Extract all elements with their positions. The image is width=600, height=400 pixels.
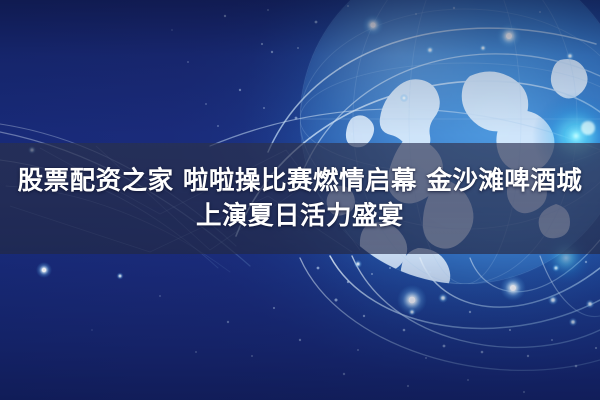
headline-line-2: 上演夏日活力盛宴 bbox=[196, 202, 404, 231]
banner-image: 股票配资之家 啦啦操比赛燃情启幕 金沙滩啤酒城 上演夏日活力盛宴 bbox=[0, 0, 600, 400]
headline-block: 股票配资之家 啦啦操比赛燃情启幕 金沙滩啤酒城 上演夏日活力盛宴 bbox=[0, 143, 600, 254]
headline-line-1: 股票配资之家 啦啦操比赛燃情启幕 金沙滩啤酒城 bbox=[18, 167, 583, 196]
